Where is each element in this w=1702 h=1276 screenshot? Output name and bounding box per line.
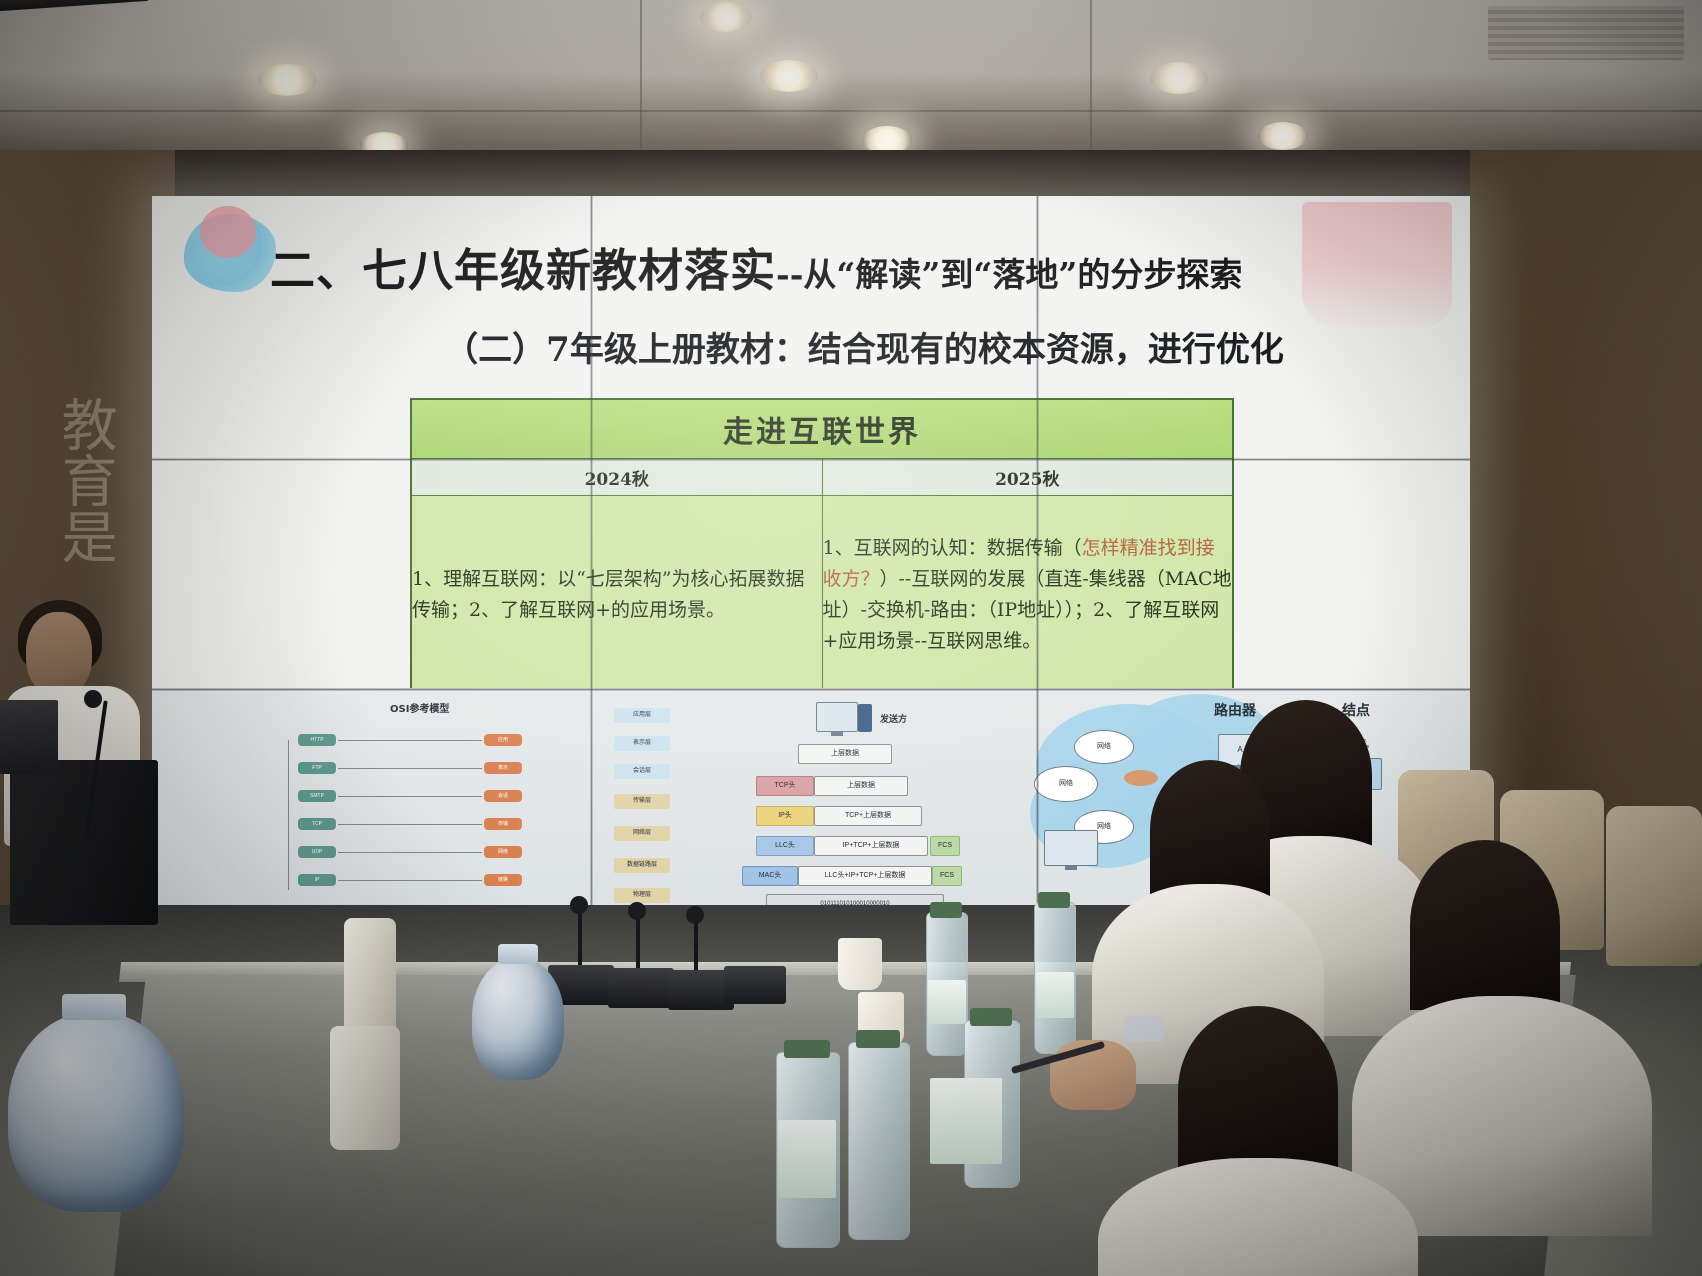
osi-layer: 会话层 [614, 764, 670, 779]
osi-proto-right: 会话 [484, 790, 522, 802]
sender-tower-icon [858, 704, 872, 732]
water-bottle-cap [856, 1030, 900, 1048]
osi-proto-left: FTP [298, 762, 336, 774]
enc-fcs-b: FCS [932, 866, 962, 886]
table-cell-2025: 1、互联网的认知：数据传输（怎样精准找到接收方？）--互联网的发展（直连-集线器… [822, 496, 1233, 696]
osi-layer: 传输层 [614, 794, 670, 809]
osi-connector [338, 796, 482, 797]
slide-title: 二、七八年级新教材落实--从“解读”到“落地”的分步探索 [270, 234, 1450, 299]
osi-connector [338, 824, 482, 825]
enc-ip-header: IP头 [756, 806, 814, 826]
sender-monitor-icon [816, 702, 858, 732]
figure-encapsulation: 发送方 上层数据 TCP头 上层数据 IP头 TCP+上层数据 LLC头 IP+… [720, 694, 1020, 909]
thermos-tumbler-small [330, 1026, 400, 1150]
enc-row-llc-data: IP+TCP+上层数据 [814, 836, 928, 856]
table-col-2024: 2024秋 [411, 459, 822, 496]
enc-row-upper-data: 上层数据 [798, 744, 892, 764]
ceiling-downlight [1150, 62, 1208, 94]
desk-mic-base [608, 968, 674, 1008]
osi-proto-right: 网络 [484, 846, 522, 858]
figure-osi-model: OSI参考模型 HTTP FTP SMTP TCP UDP IP 应用 表示 会… [272, 694, 602, 909]
osi-layer: 表示层 [614, 736, 670, 751]
sender-label: 发送方 [880, 712, 907, 725]
osi-proto-left: IP [298, 874, 336, 886]
audience-head [1178, 1006, 1338, 1176]
osi-layer: 网络层 [614, 826, 670, 841]
ceiling-seam [0, 110, 1702, 112]
cell-2025-text-a: 1、互联网的认知：数据传输（ [823, 537, 1082, 559]
osi-connector [338, 880, 482, 881]
osi-proto-left: UDP [298, 846, 336, 858]
enc-tcp-header: TCP头 [756, 776, 814, 796]
audience-head [1410, 840, 1560, 1010]
osi-layer: 数据链路层 [614, 858, 670, 873]
router-icon [1124, 770, 1158, 786]
ceiling-downlight [760, 60, 818, 92]
osi-connector [338, 768, 482, 769]
slide-title-main: 二、七八年级新教材落实 [270, 244, 776, 297]
osi-spine [288, 740, 289, 890]
water-bottle [848, 1042, 910, 1240]
conference-room-photo: 教育是 二、七八年级新教材落实--从“解读”到“落地”的分步探索 （二）7年级上… [0, 0, 1702, 1276]
osi-layer: 应用层 [614, 708, 670, 723]
water-bottle-cap [930, 902, 962, 918]
desk-mic-base [724, 966, 786, 1004]
table-col-2025: 2025秋 [822, 459, 1233, 496]
tea-cup [838, 938, 882, 990]
water-bottle-label [778, 1120, 836, 1198]
cell-2025-text-b: ）--互联网的发展（直连-集线器（MAC地址）-交换机-路由：（IP地址））；2… [823, 568, 1232, 652]
water-bottle-cap [1038, 892, 1070, 908]
ceiling-downlight [700, 2, 752, 32]
client-monitor-icon [1044, 830, 1098, 866]
floor-vase-blue [8, 1012, 184, 1212]
figure-osi-layers: 应用层 表示层 会话层 传输层 网络层 数据链路层 物理层 [604, 694, 694, 909]
monitor-stand [1065, 866, 1077, 870]
ceiling-downlight [1258, 122, 1308, 150]
ceiling-vent [1488, 6, 1684, 60]
audience-head [1150, 760, 1270, 900]
video-wall-bezel-seam [152, 688, 1470, 691]
osi-proto-left: HTTP [298, 734, 336, 746]
video-wall-bezel-seam [152, 458, 1470, 461]
enc-row-mac-data: LLC头+IP+TCP+上层数据 [798, 866, 932, 886]
osi-proto-right: 应用 [484, 734, 522, 746]
curriculum-table: 走进互联世界 2024秋 2025秋 1、理解互联网：以“七层架构”为核心拓展数… [410, 398, 1234, 696]
enc-fcs-a: FCS [930, 836, 960, 856]
table-vase-blue [472, 958, 564, 1080]
audience-chair [1606, 806, 1702, 966]
presenter-head [26, 612, 92, 696]
water-bottle-cap [784, 1040, 830, 1058]
presenter-laptop [0, 700, 58, 774]
enc-row-ip-data: TCP+上层数据 [814, 806, 922, 826]
slide-title-sub: --从“解读”到“落地”的分步探索 [776, 255, 1242, 294]
osi-connector [338, 740, 482, 741]
wall-upper-strip [0, 150, 1702, 198]
network-node-cloud: 网络 [1074, 730, 1134, 764]
router-label: 路由器 [1214, 700, 1256, 720]
podium [10, 760, 158, 925]
table-banner-row: 走进互联世界 [411, 399, 1233, 459]
osi-proto-right: 表示 [484, 762, 522, 774]
enc-llc-header: LLC头 [756, 836, 814, 856]
audience-watch [1124, 1016, 1164, 1042]
osi-proto-right: 链路 [484, 874, 522, 886]
table-header-row: 2024秋 2025秋 [411, 459, 1233, 496]
osi-connector [338, 852, 482, 853]
slide-subtitle: （二）7年级上册教材：结合现有的校本资源，进行优化 [304, 322, 1424, 371]
osi-proto-left: TCP [298, 818, 336, 830]
water-bottle-cap [970, 1008, 1012, 1026]
water-bottle-label [1036, 972, 1074, 1018]
desk-mic-head [686, 906, 704, 924]
enc-row-tcp-data: 上层数据 [814, 776, 908, 796]
monitor-stand [831, 732, 843, 736]
water-bottle-label [928, 980, 966, 1024]
table-banner-cell: 走进互联世界 [411, 399, 1233, 459]
osi-layer: 物理层 [614, 888, 670, 903]
water-bottle-label [930, 1078, 1002, 1164]
podium-mic-head [84, 690, 102, 708]
desk-mic-head [570, 896, 588, 914]
video-wall-bezel-seam [1036, 196, 1039, 911]
network-node-cloud: 网络 [1034, 766, 1098, 802]
osi-proto-left: SMTP [298, 790, 336, 802]
enc-mac-header: MAC头 [742, 866, 798, 886]
osi-proto-right: 传输 [484, 818, 522, 830]
figure-osi-title: OSI参考模型 [390, 700, 449, 715]
video-wall-bezel-seam [590, 196, 593, 911]
table-body-row: 1、理解互联网：以“七层架构”为核心拓展数据传输；2、了解互联网+的应用场景。 … [411, 496, 1233, 696]
desk-mic-head [628, 902, 646, 920]
floor-vase-neck [62, 994, 126, 1020]
table-cell-2024: 1、理解互联网：以“七层架构”为核心拓展数据传输；2、了解互联网+的应用场景。 [411, 496, 822, 696]
table-vase-neck [498, 944, 538, 964]
decor-pink-dot [200, 206, 256, 258]
ceiling-downlight [258, 64, 316, 96]
